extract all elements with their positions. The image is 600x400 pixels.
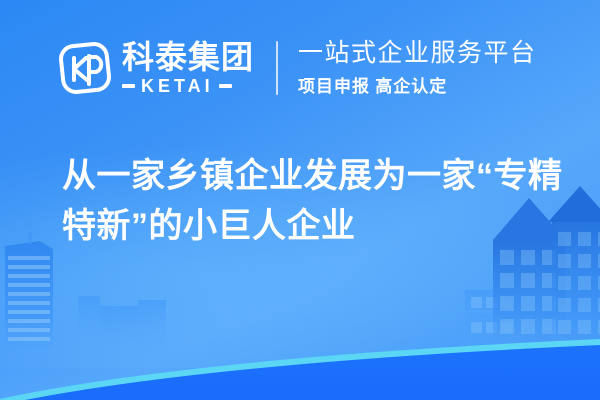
logo-dash-left-icon [122, 84, 135, 88]
promo-banner: 科泰集团 KETAI 一站式企业服务平台 项目申报 高企认定 从一家乡镇企业发展… [0, 0, 600, 400]
header-divider [276, 41, 278, 95]
ketai-logo-icon [56, 39, 114, 97]
logo-name-en: KETAI [135, 77, 219, 95]
tagline-sub: 项目申报 高企认定 [298, 72, 537, 97]
tagline-block: 一站式企业服务平台 项目申报 高企认定 [298, 39, 537, 98]
logo-name-cn: 科泰集团 [122, 41, 254, 75]
logo-name-en-row: KETAI [122, 77, 254, 95]
brand-header: 科泰集团 KETAI 一站式企业服务平台 项目申报 高企认定 [56, 33, 537, 103]
headline: 从一家乡镇企业发展为一家“专精 特新”的小巨人企业 [62, 151, 562, 252]
headline-line-2: 特新”的小巨人企业 [62, 201, 562, 251]
tagline-main: 一站式企业服务平台 [298, 39, 537, 69]
logo-dash-right-icon [219, 84, 232, 88]
logo-wordmark: 科泰集团 KETAI [122, 41, 254, 95]
headline-line-1: 从一家乡镇企业发展为一家“专精 [62, 151, 562, 201]
